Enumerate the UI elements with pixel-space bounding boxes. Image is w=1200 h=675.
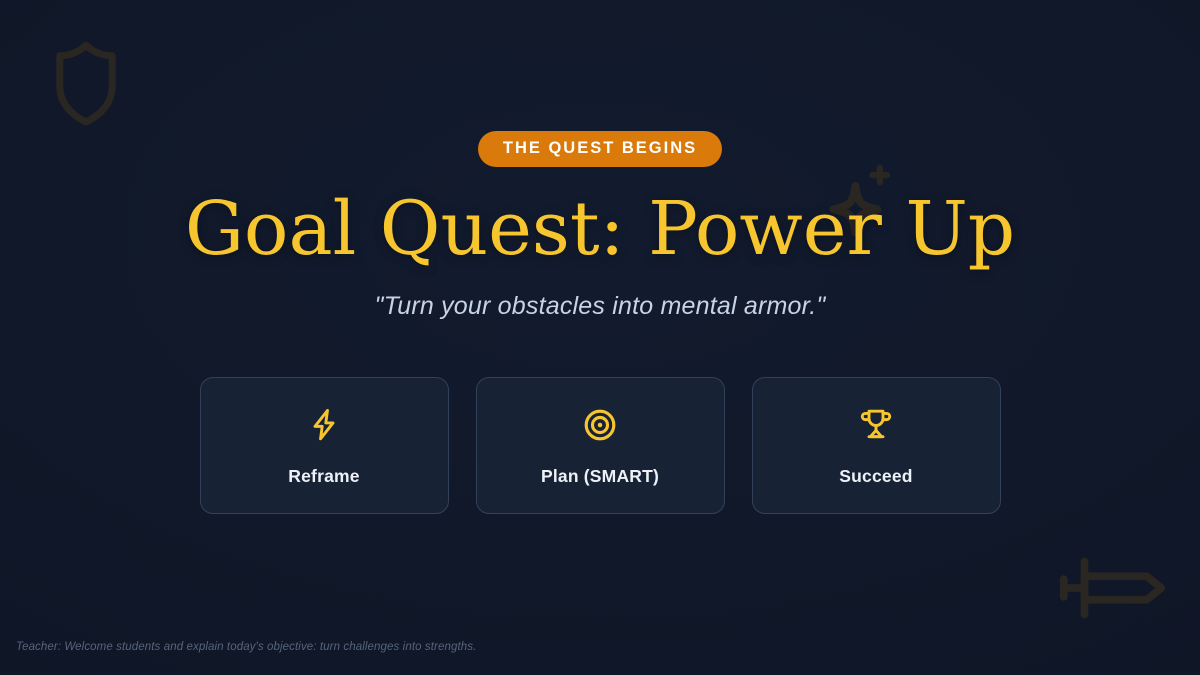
feature-card-plan[interactable]: Plan (SMART) — [476, 377, 725, 514]
page-title: Goal Quest: Power Up — [185, 191, 1015, 269]
feature-card-reframe[interactable]: Reframe — [200, 377, 449, 514]
feature-card-label: Plan (SMART) — [541, 466, 659, 487]
presentation-slide: THE QUEST BEGINS Goal Quest: Power Up "T… — [0, 0, 1200, 675]
feature-card-label: Succeed — [839, 466, 912, 487]
feature-card-list: Reframe Plan (SMART) — [200, 377, 1001, 514]
feature-card-succeed[interactable]: Succeed — [752, 377, 1001, 514]
lightning-bolt-icon — [307, 405, 341, 445]
trophy-icon — [859, 405, 893, 445]
slide-content: THE QUEST BEGINS Goal Quest: Power Up "T… — [0, 0, 1200, 675]
target-icon — [582, 405, 618, 445]
feature-card-label: Reframe — [288, 466, 359, 487]
status-badge: THE QUEST BEGINS — [478, 131, 722, 167]
teacher-note: Teacher: Welcome students and explain to… — [16, 641, 476, 653]
slide-subtitle: "Turn your obstacles into mental armor." — [375, 292, 826, 321]
